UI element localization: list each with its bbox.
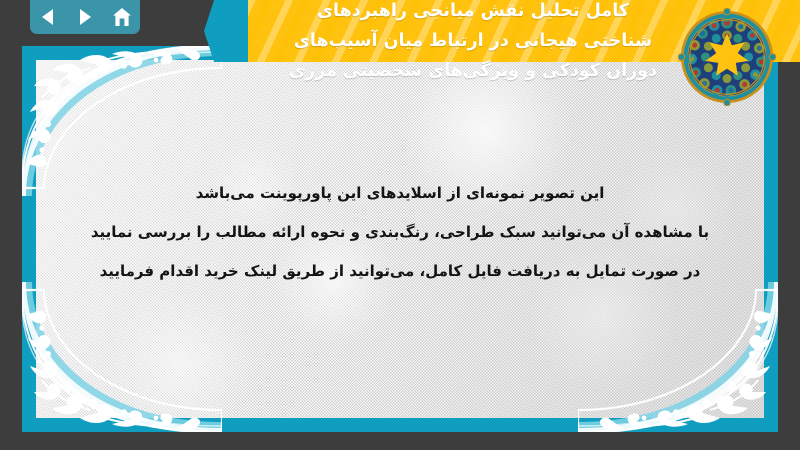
- home-icon: [112, 8, 132, 27]
- body-line: در صورت تمایل به دریافت فایل کامل، می‌تو…: [62, 252, 738, 291]
- slide-viewer: این تصویر نمونه‌ای از اسلایدهای این پاور…: [0, 0, 800, 450]
- back-button[interactable]: [34, 4, 62, 30]
- forward-button[interactable]: [71, 4, 99, 30]
- medallion-ornament-icon: [678, 8, 776, 106]
- body-line: این تصویر نمونه‌ای از اسلایدهای این پاور…: [62, 174, 738, 213]
- slide-frame: این تصویر نمونه‌ای از اسلایدهای این پاور…: [22, 46, 778, 432]
- body-line: با مشاهده آن می‌توانید سبک طراحی، رنگ‌بن…: [62, 213, 738, 252]
- slide-body-text: این تصویر نمونه‌ای از اسلایدهای این پاور…: [22, 174, 778, 291]
- home-button[interactable]: [108, 4, 136, 30]
- back-arrow-icon: [40, 8, 56, 26]
- viewer-navigation-bar: [30, 0, 140, 34]
- forward-arrow-icon: [77, 8, 93, 26]
